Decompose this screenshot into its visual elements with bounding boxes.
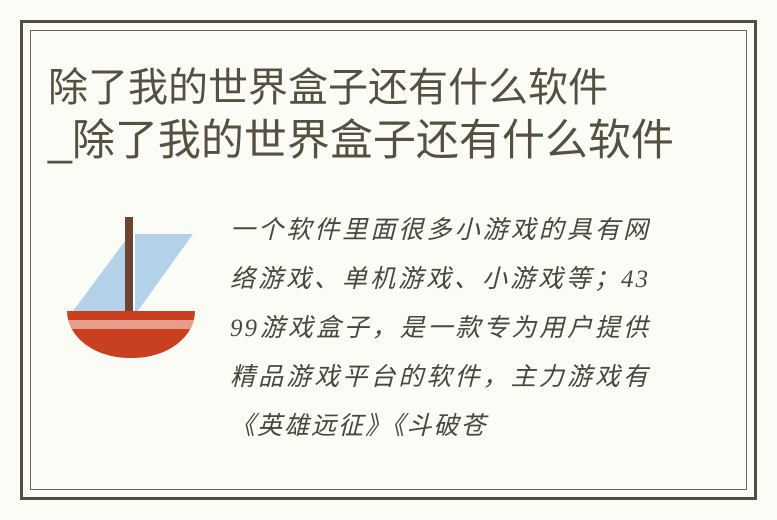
hull-stripe-icon bbox=[67, 320, 195, 329]
sail-left-icon bbox=[70, 241, 125, 315]
sail-right-icon bbox=[135, 234, 193, 315]
mast-icon bbox=[125, 217, 133, 317]
page-title: 除了我的世界盒子还有什么软件 _除了我的世界盒子还有什么软件 bbox=[48, 62, 738, 169]
article-card: 除了我的世界盒子还有什么软件 _除了我的世界盒子还有什么软件 一个软件里面很多小… bbox=[0, 0, 777, 520]
title-line-primary: 除了我的世界盒子还有什么软件 bbox=[48, 62, 738, 114]
sailboat-icon bbox=[62, 205, 202, 350]
article-body: 一个软件里面很多小游戏的具有网络游戏、单机游戏、小游戏等；4399游戏盒子，是一… bbox=[230, 206, 650, 451]
hull-icon bbox=[67, 311, 195, 358]
title-line-secondary: _除了我的世界盒子还有什么软件 bbox=[48, 114, 738, 169]
